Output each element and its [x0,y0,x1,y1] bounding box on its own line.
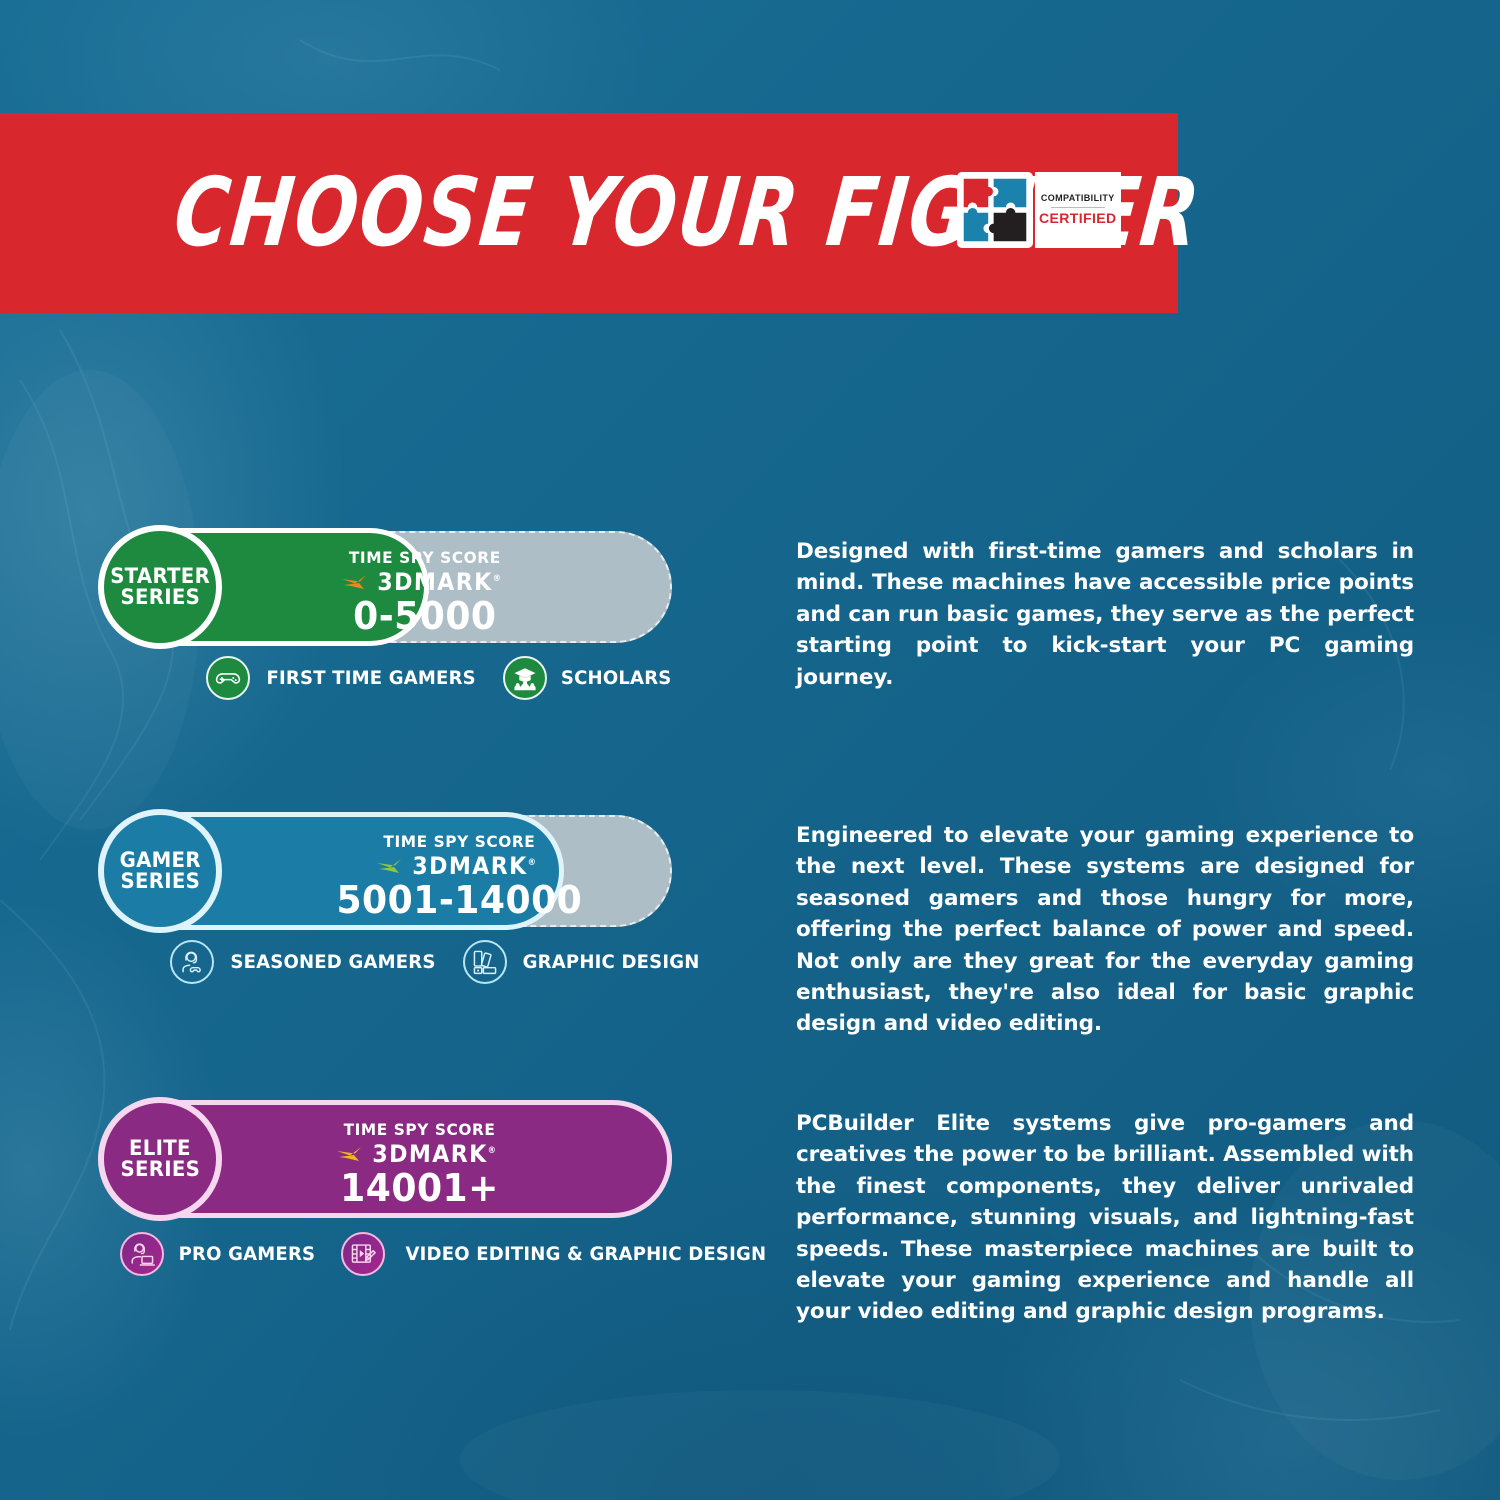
starter-score-bar: STARTER SERIES TIME SPY SCORE 3DMARK® 0-… [104,528,704,646]
threedmark-logo: 3DMARK® [342,568,508,596]
brand-name: 3DMARK® [377,568,502,596]
elite-score-bar: ELITE SERIES TIME SPY SCORE 3DMARK® 1400… [104,1100,704,1218]
tag-first-time-gamers[interactable]: FIRST TIME GAMERS [206,656,481,700]
series-description: PCBuilder Elite systems give pro-gamers … [796,1108,1414,1328]
score-value: 0-5000 [346,597,503,635]
tag-graphic-design[interactable]: GRAPHIC DESIGN [463,940,704,984]
tag-label: PRO GAMERS [179,1243,316,1265]
gamer-audience-tags: SEASONED GAMERS GRAPHIC DESIGN [170,940,704,984]
series-name-line1: STARTER [110,566,210,587]
series-badge-gamer[interactable]: GAMER SERIES [98,809,222,933]
elite-description-column: PCBuilder Elite systems give pro-gamers … [704,1100,1414,1328]
certified-label-box: COMPATIBILITY CERTIFIED [1035,172,1121,248]
score-value: 14001+ [340,1169,499,1207]
series-name-line2: SERIES [120,1159,200,1180]
series-name-line2: SERIES [120,871,200,892]
tag-seasoned-gamers[interactable]: SEASONED GAMERS [170,940,441,984]
tag-label: FIRST TIME GAMERS [267,667,476,689]
score-caption: TIME SPY SCORE [339,1120,499,1139]
pro-gamer-desk-icon [120,1232,164,1276]
series-name-line1: ELITE [129,1138,191,1159]
series-description: Designed with first-time gamers and scho… [796,536,1414,693]
score-value: 5001-14000 [336,881,582,919]
elite-score-block: TIME SPY SCORE 3DMARK® 14001+ [336,1120,503,1207]
tag-pro-gamers[interactable]: PRO GAMERS [120,1232,319,1276]
gamer-score-bar: GAMER SERIES TIME SPY SCORE 3DMARK® 5001… [104,812,704,930]
gamer-visual-column: GAMER SERIES TIME SPY SCORE 3DMARK® 5001… [104,812,704,1040]
video-edit-pencil-icon [341,1232,385,1276]
tag-label: GRAPHIC DESIGN [523,951,700,973]
color-palette-icon [463,940,507,984]
series-description: Engineered to elevate your gaming experi… [796,820,1414,1040]
threedmark-arrow-icon [377,857,403,876]
graduation-cap-icon [503,656,547,700]
series-row-gamer: GAMER SERIES TIME SPY SCORE 3DMARK® 5001… [104,812,1414,1040]
starter-visual-column: STARTER SERIES TIME SPY SCORE 3DMARK® 0-… [104,528,704,693]
badge-bottom-label: CERTIFIED [1039,211,1117,226]
badge-top-label: COMPATIBILITY [1041,194,1115,204]
compatibility-certified-badge: COMPATIBILITY CERTIFIED [957,172,1105,248]
badge-divider [1051,207,1105,208]
series-name-line1: GAMER [119,850,200,871]
series-name-line2: SERIES [120,587,200,608]
tag-label: VIDEO EDITING & GRAPHIC DESIGN [405,1243,766,1265]
tag-scholars[interactable]: SCHOLARS [503,656,674,700]
starter-description-column: Designed with first-time gamers and scho… [704,528,1414,693]
headset-gamer-icon [170,940,214,984]
elite-audience-tags: PRO GAMERS VIDEO EDITING & GRAPHIC DESIG… [120,1232,776,1276]
series-row-elite: ELITE SERIES TIME SPY SCORE 3DMARK® 1400… [104,1100,1414,1328]
score-caption: TIME SPY SCORE [335,832,583,851]
starter-audience-tags: FIRST TIME GAMERS [206,656,675,700]
gamer-score-block: TIME SPY SCORE 3DMARK® 5001-14000 [330,832,589,919]
gamepad-icon [206,656,250,700]
tag-label: SCHOLARS [561,667,672,689]
score-caption: TIME SPY SCORE [345,548,504,567]
tag-video-editing-graphic-design[interactable]: VIDEO EDITING & GRAPHIC DESIGN [341,1232,776,1276]
gamer-description-column: Engineered to elevate your gaming experi… [704,812,1414,1040]
threedmark-arrow-icon [337,1145,363,1164]
threedmark-arrow-icon [342,573,368,592]
series-row-starter: STARTER SERIES TIME SPY SCORE 3DMARK® 0-… [104,528,1414,693]
brand-name: 3DMARK® [412,852,537,880]
series-badge-elite[interactable]: ELITE SERIES [98,1097,222,1221]
series-badge-starter[interactable]: STARTER SERIES [98,525,222,649]
threedmark-logo: 3DMARK® [336,1140,503,1168]
elite-visual-column: ELITE SERIES TIME SPY SCORE 3DMARK® 1400… [104,1100,704,1328]
threedmark-logo: 3DMARK® [330,852,589,880]
starter-score-block: TIME SPY SCORE 3DMARK® 0-5000 [342,548,508,635]
puzzle-piece-icon [957,172,1033,248]
tag-label: SEASONED GAMERS [230,951,435,973]
brand-name: 3DMARK® [372,1140,497,1168]
poster-canvas: CHOOSE YOUR FIGHTER COMPATIBILITY CERTIF… [0,0,1500,1500]
